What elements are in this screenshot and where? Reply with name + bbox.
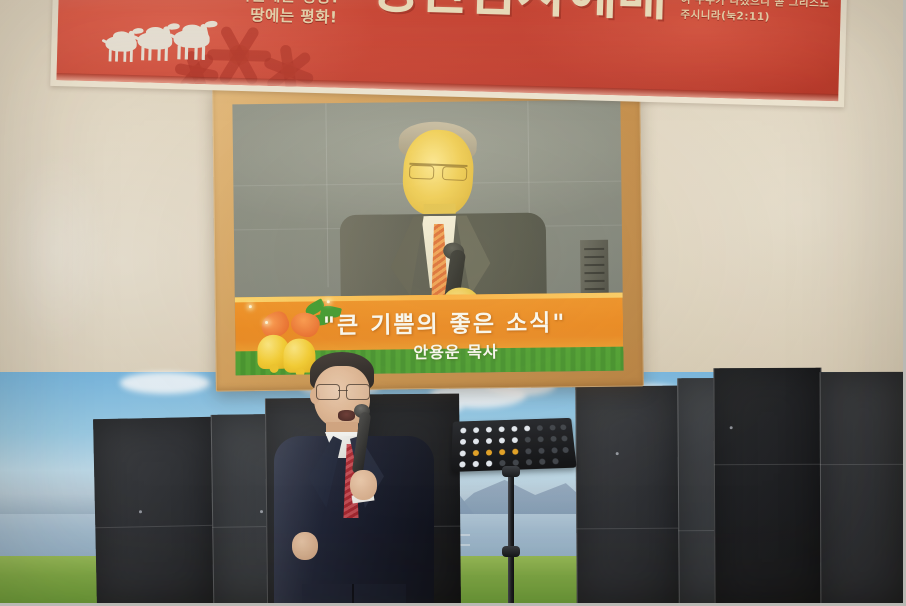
glasses-icon [316,384,370,399]
preacher-mouth [338,410,355,421]
speaker-cabinet [580,240,609,298]
acoustic-panel [713,368,822,606]
music-stand-clamp [502,546,520,557]
photograph: "큰 기쁨의 좋은 소식" 안용운 목사 [0,0,906,606]
acoustic-panel [93,417,217,606]
acoustic-panel [820,372,906,606]
screen-frame: "큰 기쁨의 좋은 소식" 안용운 목사 [212,81,644,391]
projection-screen: "큰 기쁨의 좋은 소식" 안용운 목사 [212,81,644,391]
cloud-icon [120,372,210,394]
projected-image: "큰 기쁨의 좋은 소식" 안용운 목사 [232,100,623,376]
preacher-hand-lowered [292,532,318,560]
music-stand-clamp [502,466,520,477]
glasses-icon [409,163,468,180]
music-stand-desk [451,418,577,472]
music-stand-pole [508,466,514,606]
preacher [268,352,448,606]
trouser-seam [352,584,354,606]
preacher-hand-raised [350,470,377,500]
sermon-title: "큰 기쁨의 좋은 소식" [323,303,567,340]
music-stand [452,418,582,606]
christmas-banner: 하늘에는 영광! 땅에는 평화! 성탄감사예배 오늘 다윗의 동네에 너희를 위… [56,0,841,101]
wall-highlight [0,150,110,350]
acoustic-panel [575,386,681,606]
suit-trousers [302,584,406,606]
